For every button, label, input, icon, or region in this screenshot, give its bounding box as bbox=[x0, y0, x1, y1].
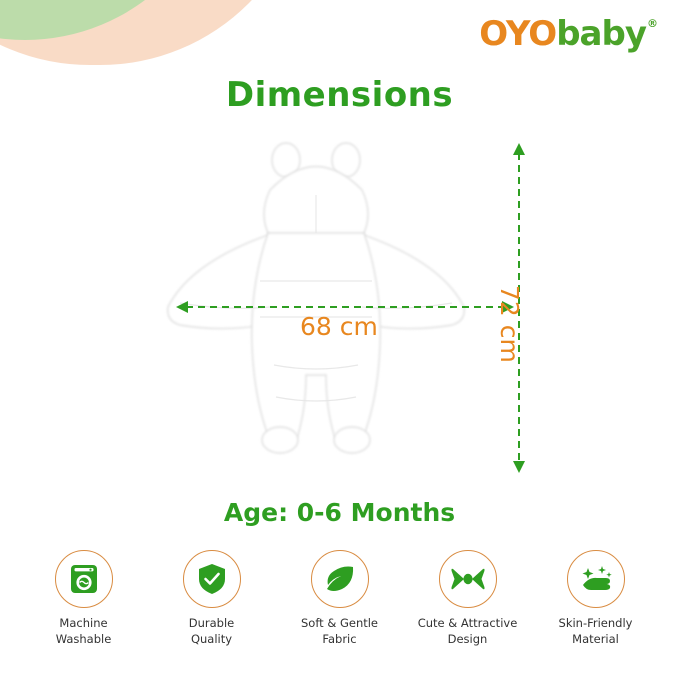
bow-icon bbox=[451, 565, 485, 593]
feature-label-line2: Quality bbox=[189, 632, 235, 648]
feature-label: Cute & Attractive Design bbox=[418, 616, 518, 647]
age-range-text: Age: 0-6 Months bbox=[0, 498, 679, 527]
width-label: 68 cm bbox=[300, 312, 378, 341]
brand-name-oyo: OYO bbox=[479, 14, 556, 54]
feature-label: Skin-Friendly Material bbox=[559, 616, 633, 647]
height-label: 72 cm bbox=[495, 285, 524, 363]
feature-label: Machine Washable bbox=[56, 616, 112, 647]
feature-icon-circle bbox=[183, 550, 241, 608]
brand-logo: OYObaby® bbox=[479, 14, 657, 54]
feature-label-line2: Fabric bbox=[301, 632, 378, 648]
brand-name-baby: baby bbox=[556, 14, 646, 54]
registered-trademark-icon: ® bbox=[647, 17, 657, 30]
washing-machine-icon bbox=[69, 563, 99, 595]
feature-icon-circle bbox=[311, 550, 369, 608]
feature-label-line2: Material bbox=[559, 632, 633, 648]
feature-icon-circle bbox=[439, 550, 497, 608]
feature-label-line1: Cute & Attractive bbox=[418, 616, 518, 632]
feature-label-line2: Design bbox=[418, 632, 518, 648]
feature-label-line1: Durable bbox=[189, 616, 235, 632]
feature-cute-attractive-design: Cute & Attractive Design bbox=[410, 550, 525, 647]
feature-durable-quality: Durable Quality bbox=[154, 550, 269, 647]
feature-soft-gentle-fabric: Soft & Gentle Fabric bbox=[282, 550, 397, 647]
feature-machine-washable: Machine Washable bbox=[26, 550, 141, 647]
feature-label-line1: Soft & Gentle bbox=[301, 616, 378, 632]
feature-label: Soft & Gentle Fabric bbox=[301, 616, 378, 647]
shield-check-icon bbox=[197, 563, 227, 595]
feature-label-line2: Washable bbox=[56, 632, 112, 648]
feature-label-line1: Machine bbox=[56, 616, 112, 632]
feature-icon-circle bbox=[567, 550, 625, 608]
feature-label-line1: Skin-Friendly bbox=[559, 616, 633, 632]
feature-skin-friendly-material: Skin-Friendly Material bbox=[538, 550, 653, 647]
leaf-icon bbox=[324, 564, 356, 594]
feature-label: Durable Quality bbox=[189, 616, 235, 647]
feature-icon-circle bbox=[55, 550, 113, 608]
hand-sparkle-icon bbox=[579, 564, 613, 594]
page-title: Dimensions bbox=[0, 75, 679, 115]
features-row: Machine Washable Durable Quality bbox=[0, 550, 679, 647]
product-infographic: OYObaby® Dimensions bbox=[0, 0, 679, 679]
